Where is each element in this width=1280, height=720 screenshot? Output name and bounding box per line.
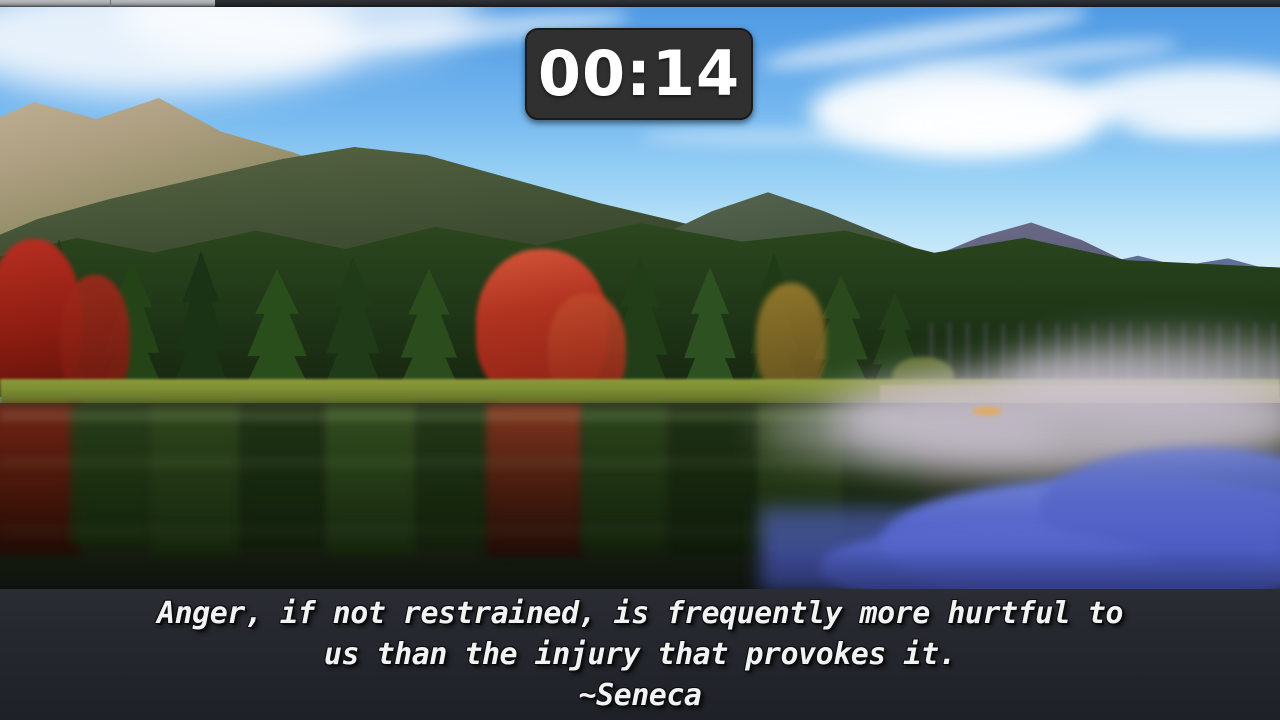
morning-mist <box>760 395 1060 465</box>
water-shimmer <box>0 459 900 466</box>
tree-reflection <box>70 405 150 545</box>
cloud-wisp <box>640 129 900 145</box>
tab-separator <box>110 0 111 7</box>
app-window: 00:14 Anger, if not restrained, is frequ… <box>0 0 1280 720</box>
quote-caption-bar: Anger, if not restrained, is frequently … <box>0 589 1280 720</box>
photo-vignette <box>0 549 1280 589</box>
video-stage[interactable]: 00:14 <box>0 7 1280 589</box>
tree-reflection <box>416 405 496 545</box>
quote-caption-text: Anger, if not restrained, is frequently … <box>0 593 1280 716</box>
cloud <box>880 97 1090 149</box>
browser-chrome-strip <box>0 0 1280 7</box>
timer-value: 00:14 <box>538 43 740 105</box>
tree-reflection <box>240 405 326 547</box>
countdown-timer[interactable]: 00:14 <box>525 28 753 120</box>
chrome-toolbar-edge <box>215 0 1280 7</box>
water-highlight <box>972 407 1002 415</box>
